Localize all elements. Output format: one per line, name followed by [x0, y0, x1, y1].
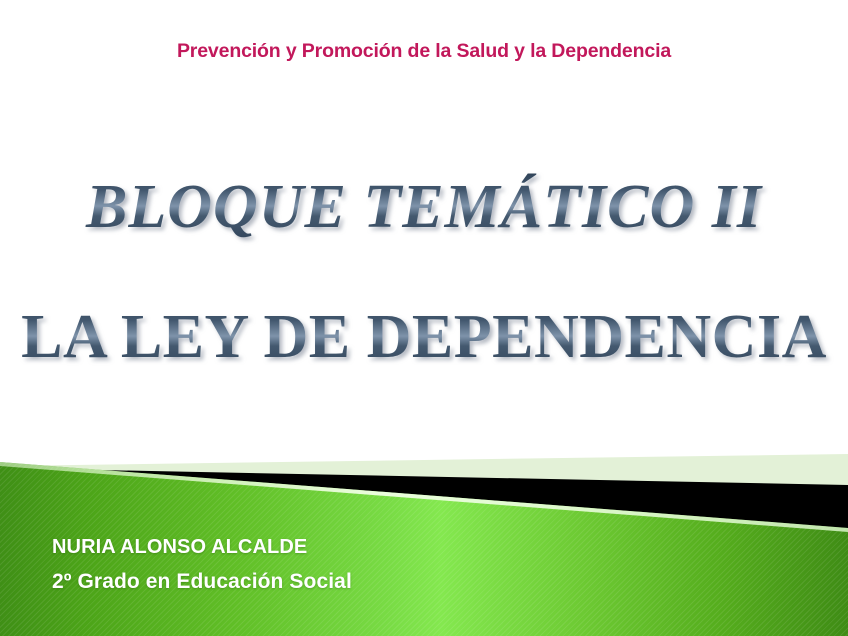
author-program: 2º Grado en Educación Social: [52, 568, 352, 596]
slide-title-line-1: BLOQUE TEMÁTICO II: [0, 172, 848, 243]
presentation-slide: Prevención y Promoción de la Salud y la …: [0, 0, 848, 636]
author-name: NURIA ALONSO ALCALDE: [52, 534, 352, 560]
slide-title-line-2: LA LEY DE DEPENDENCIA: [0, 302, 848, 373]
slide-header-subtitle: Prevención y Promoción de la Salud y la …: [0, 40, 848, 63]
author-block: NURIA ALONSO ALCALDE 2º Grado en Educaci…: [52, 534, 352, 596]
